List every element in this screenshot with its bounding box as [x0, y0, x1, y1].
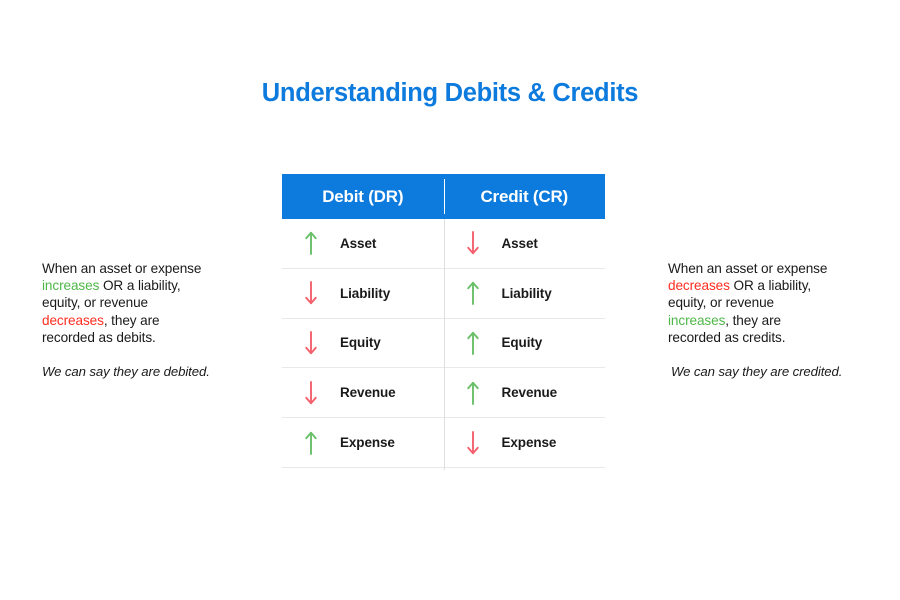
debit-text-line-2: OR a liability,: [99, 278, 180, 293]
credit-cell: Equity: [444, 319, 606, 368]
debit-cell: Expense: [282, 418, 444, 467]
table-header-row: Debit (DR) Credit (CR): [282, 174, 605, 219]
credit-text-line-2: OR a liability,: [730, 278, 811, 293]
credit-text-line-5: recorded as credits.: [668, 330, 785, 345]
credit-emphasis-decreases: decreases: [668, 278, 730, 293]
debit-text-line-4: , they are: [104, 313, 160, 328]
debit-text-line-5: recorded as debits.: [42, 330, 156, 345]
debit-cell-label: Liability: [340, 286, 390, 301]
credit-explanation-text: When an asset or expense decreases OR a …: [668, 260, 883, 346]
debit-cell-label: Expense: [340, 435, 395, 450]
debit-text-line-1: When an asset or expense: [42, 261, 201, 276]
table-body: Asset Asset Liability Liability Equity: [282, 219, 605, 468]
credit-text-line-3: equity, or revenue: [668, 295, 774, 310]
column-header-debit-label: Debit (DR): [322, 187, 403, 207]
arrow-up-icon: [304, 431, 318, 455]
credit-note: We can say they are credited.: [668, 363, 883, 380]
debit-cell-label: Asset: [340, 236, 376, 251]
page-title: Understanding Debits & Credits: [0, 79, 900, 108]
debit-cell-label: Equity: [340, 335, 381, 350]
credit-cell: Expense: [444, 418, 606, 467]
debit-cell: Equity: [282, 319, 444, 368]
column-header-credit: Credit (CR): [444, 174, 606, 219]
debit-emphasis-increases: increases: [42, 278, 99, 293]
arrow-up-icon: [466, 331, 480, 355]
credit-cell-label: Liability: [502, 286, 552, 301]
arrow-down-icon: [304, 381, 318, 405]
arrow-up-icon: [466, 381, 480, 405]
debit-text-line-3: equity, or revenue: [42, 295, 148, 310]
column-divider: [444, 219, 445, 470]
credit-cell-label: Expense: [502, 435, 557, 450]
credit-cell-label: Revenue: [502, 385, 558, 400]
debit-cell: Liability: [282, 269, 444, 318]
arrow-up-icon: [304, 231, 318, 255]
debit-cell: Revenue: [282, 368, 444, 417]
arrow-down-icon: [304, 331, 318, 355]
arrow-down-icon: [304, 281, 318, 305]
credit-text-line-4: , they are: [725, 313, 781, 328]
credit-cell-label: Equity: [502, 335, 543, 350]
credit-cell: Liability: [444, 269, 606, 318]
debit-explanation-block: When an asset or expense increases OR a …: [42, 260, 257, 380]
column-header-debit: Debit (DR): [282, 174, 444, 219]
debits-credits-table: Debit (DR) Credit (CR) Asset Asset Liabi…: [282, 174, 605, 468]
credit-cell-label: Asset: [502, 236, 538, 251]
debit-cell-label: Revenue: [340, 385, 396, 400]
credit-explanation-block: When an asset or expense decreases OR a …: [668, 260, 883, 380]
column-header-credit-label: Credit (CR): [480, 187, 568, 207]
debit-note: We can say they are debited.: [42, 363, 257, 380]
debit-cell: Asset: [282, 219, 444, 268]
credit-cell: Asset: [444, 219, 606, 268]
credit-cell: Revenue: [444, 368, 606, 417]
arrow-down-icon: [466, 431, 480, 455]
debit-emphasis-decreases: decreases: [42, 313, 104, 328]
credit-text-line-1: When an asset or expense: [668, 261, 827, 276]
credit-emphasis-increases: increases: [668, 313, 725, 328]
debit-explanation-text: When an asset or expense increases OR a …: [42, 260, 257, 346]
arrow-down-icon: [466, 231, 480, 255]
arrow-up-icon: [466, 281, 480, 305]
